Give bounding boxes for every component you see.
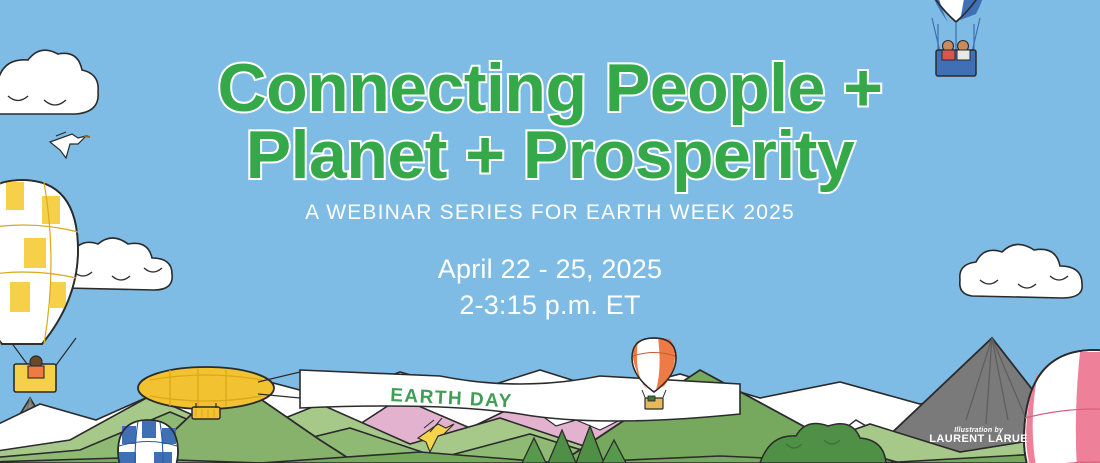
banner-subtitle: A WEBINAR SERIES FOR EARTH WEEK 2025	[0, 201, 1100, 225]
page-title: Connecting People + Planet + Prosperity	[0, 56, 1100, 189]
credit-artist-name: LAURENT LARUE	[929, 434, 1028, 446]
illustration-credit: Illustration by LAURENT LARUE	[929, 427, 1028, 446]
title-line-2: Planet + Prosperity	[0, 123, 1100, 188]
balloon-blue-bottom-left	[118, 420, 178, 463]
earth-week-webinar-banner: EARTH DAY	[0, 0, 1100, 463]
title-line-1: Connecting People +	[0, 56, 1100, 121]
event-schedule: April 22 - 25, 2025 2-3:15 p.m. ET	[0, 252, 1100, 323]
event-date: April 22 - 25, 2025	[0, 252, 1100, 288]
event-time: 2-3:15 p.m. ET	[0, 288, 1100, 324]
